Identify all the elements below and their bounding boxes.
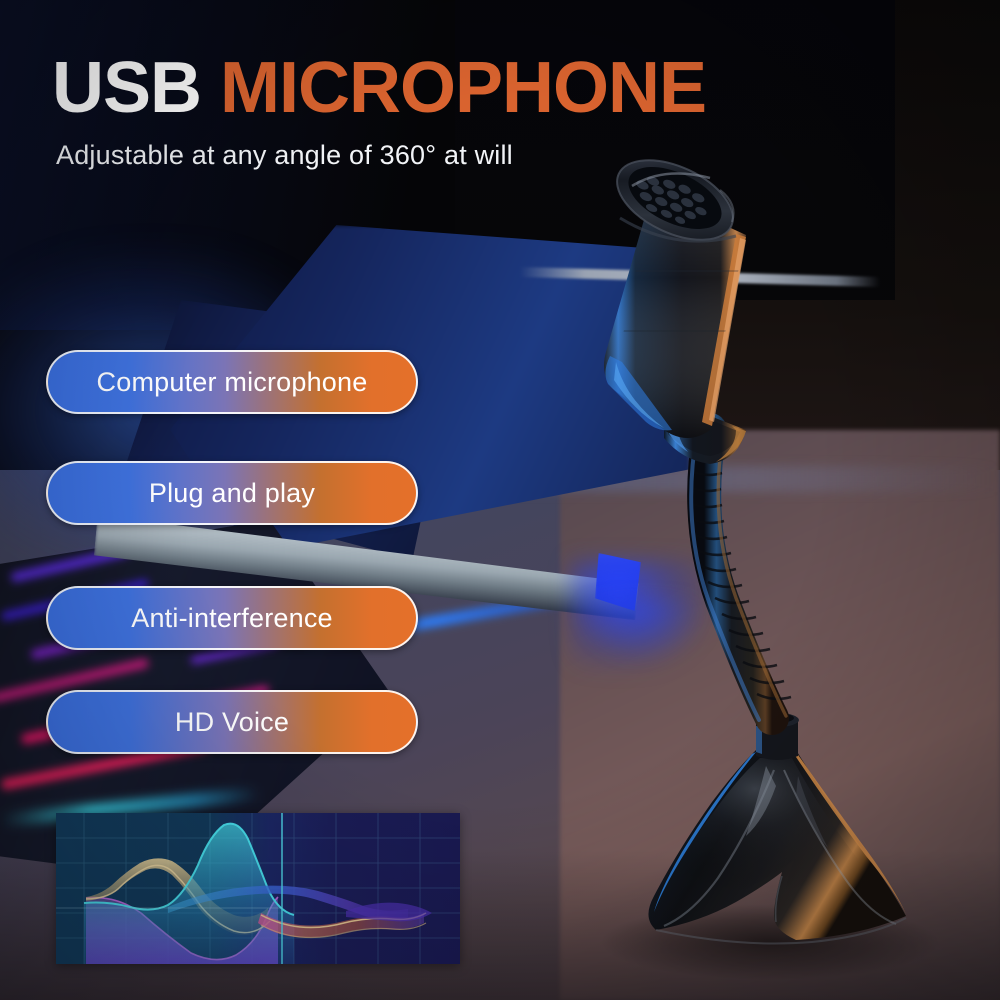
headline-microphone: MICROPHONE — [220, 48, 706, 128]
tripod-base — [648, 750, 906, 944]
feature-pill-label: Computer microphone — [97, 367, 368, 398]
keyboard-light-row — [11, 547, 130, 583]
gooseneck — [688, 428, 791, 720]
subtitle: Adjustable at any angle of 360° at will — [56, 140, 513, 171]
feature-pill-plug-and-play[interactable]: Plug and play — [46, 461, 418, 525]
headline-usb: USB — [52, 48, 220, 128]
mic-grille — [605, 144, 745, 256]
feature-pill-computer-microphone[interactable]: Computer microphone — [46, 350, 418, 414]
usb-microphone-product-photo — [560, 130, 1000, 1000]
audio-waveform-graphic — [56, 813, 460, 964]
feature-pill-label: Anti-interference — [131, 603, 333, 634]
feature-pill-anti-interference[interactable]: Anti-interference — [46, 586, 418, 650]
product-banner: USB MICROPHONE Adjustable at any angle o… — [0, 0, 1000, 1000]
page-title: USB MICROPHONE — [52, 52, 706, 124]
feature-pill-label: HD Voice — [175, 707, 289, 738]
feature-pill-label: Plug and play — [149, 478, 315, 509]
feature-pill-hd-voice[interactable]: HD Voice — [46, 690, 418, 754]
